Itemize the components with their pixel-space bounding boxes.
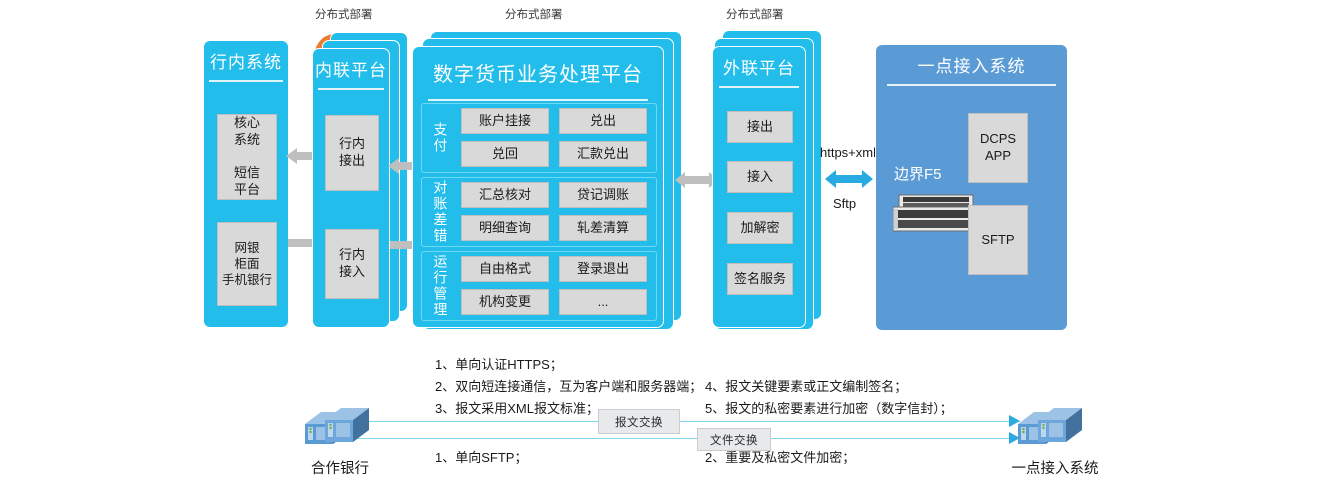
dcep-box-payment-3: 汇款兑出 bbox=[559, 141, 647, 167]
server-stack-icon-access-system bbox=[1008, 400, 1094, 452]
external-box-0: 接出 bbox=[727, 111, 793, 143]
f5-network-device-icon bbox=[893, 193, 977, 235]
tag-message-exchange: 报文交换 bbox=[598, 409, 680, 434]
intranet-outbound-box: 行内 接出 bbox=[325, 115, 379, 191]
panel-external-platform-title: 外联平台 bbox=[713, 47, 805, 88]
message-note-left-2: 3、报文采用XML报文标准； bbox=[435, 398, 599, 417]
protocol-label-https: https+xml bbox=[820, 145, 876, 160]
panel-single-access-title: 一点接入系统 bbox=[876, 45, 1067, 86]
dcep-box-ops-2: 机构变更 bbox=[461, 289, 549, 315]
panel-external-platform: 外联平台 接出 接入 加解密 签名服务 bbox=[712, 46, 806, 328]
bidirectional-arrow-protocol bbox=[825, 168, 873, 190]
panel-intra-system-title: 行内系统 bbox=[204, 41, 288, 82]
intra-core-system-box: 核心 系统 短信 平台 bbox=[217, 114, 277, 200]
dcep-box-recon-2: 明细查询 bbox=[461, 215, 549, 241]
dcep-box-payment-2: 兑回 bbox=[461, 141, 549, 167]
panel-intranet-platform: 内联平台 行内 接出 行内 接入 bbox=[312, 48, 390, 328]
intranet-inbound-box: 行内 接入 bbox=[325, 229, 379, 299]
intra-ebank-box: 网银 柜面 手机银行 bbox=[217, 222, 277, 306]
external-box-2: 加解密 bbox=[727, 212, 793, 244]
panel-dcep-platform: 数字货币业务处理平台 支付 账户挂接 兑出 兑回 汇款兑出 对账差错 汇总核对 … bbox=[412, 46, 664, 328]
panel-dcep-platform-title: 数字货币业务处理平台 bbox=[413, 47, 663, 101]
panel-single-access-system: 一点接入系统 边界F5 DCPS APP SFTP bbox=[875, 44, 1068, 331]
message-note-left-1: 2、双向短连接通信，互为客户端和服务器端； bbox=[435, 376, 702, 395]
access-box-sftp: SFTP bbox=[968, 205, 1028, 275]
diagram-canvas: 分布式部署 分布式部署 分布式部署 行内系统 核心 系统 短信 平台 网银 柜面… bbox=[0, 0, 1333, 483]
group-label-operations: 运行管理 bbox=[427, 254, 453, 318]
panel-intra-system: 行内系统 核心 系统 短信 平台 网银 柜面 手机银行 bbox=[203, 40, 289, 328]
node-label-access-system: 一点接入系统 bbox=[1000, 457, 1110, 478]
message-note-right-0: 4、报文关键要素或正文编制签名； bbox=[705, 376, 907, 395]
dcep-box-recon-3: 轧差清算 bbox=[559, 215, 647, 241]
message-note-right-1: 5、报文的私密要素进行加密（数字信封）； bbox=[705, 398, 953, 417]
file-note-right-0: 2、重要及私密文件加密； bbox=[705, 447, 855, 466]
access-box-dcps-app: DCPS APP bbox=[968, 113, 1028, 183]
dcep-box-ops-1: 登录退出 bbox=[559, 256, 647, 282]
protocol-label-sftp: Sftp bbox=[833, 196, 856, 211]
server-stack-icon-partner-bank bbox=[295, 400, 381, 452]
dcep-box-ops-3: ... bbox=[559, 289, 647, 315]
f5-label: 边界F5 bbox=[894, 163, 942, 184]
panel-intranet-platform-title: 内联平台 bbox=[313, 49, 389, 90]
dcep-box-payment-1: 兑出 bbox=[559, 108, 647, 134]
file-note-left-0: 1、单向SFTP； bbox=[435, 447, 527, 466]
dcep-box-ops-0: 自由格式 bbox=[461, 256, 549, 282]
flow-line-file bbox=[320, 438, 1020, 439]
external-box-1: 接入 bbox=[727, 161, 793, 193]
external-box-3: 签名服务 bbox=[727, 263, 793, 295]
dcep-box-recon-1: 贷记调账 bbox=[559, 182, 647, 208]
message-note-left-0: 1、单向认证HTTPS； bbox=[435, 354, 563, 373]
dcep-box-recon-0: 汇总核对 bbox=[461, 182, 549, 208]
node-label-partner-bank: 合作银行 bbox=[295, 457, 385, 478]
dcep-box-payment-0: 账户挂接 bbox=[461, 108, 549, 134]
group-label-reconciliation: 对账差错 bbox=[427, 180, 453, 244]
group-label-payment: 支付 bbox=[427, 107, 453, 169]
